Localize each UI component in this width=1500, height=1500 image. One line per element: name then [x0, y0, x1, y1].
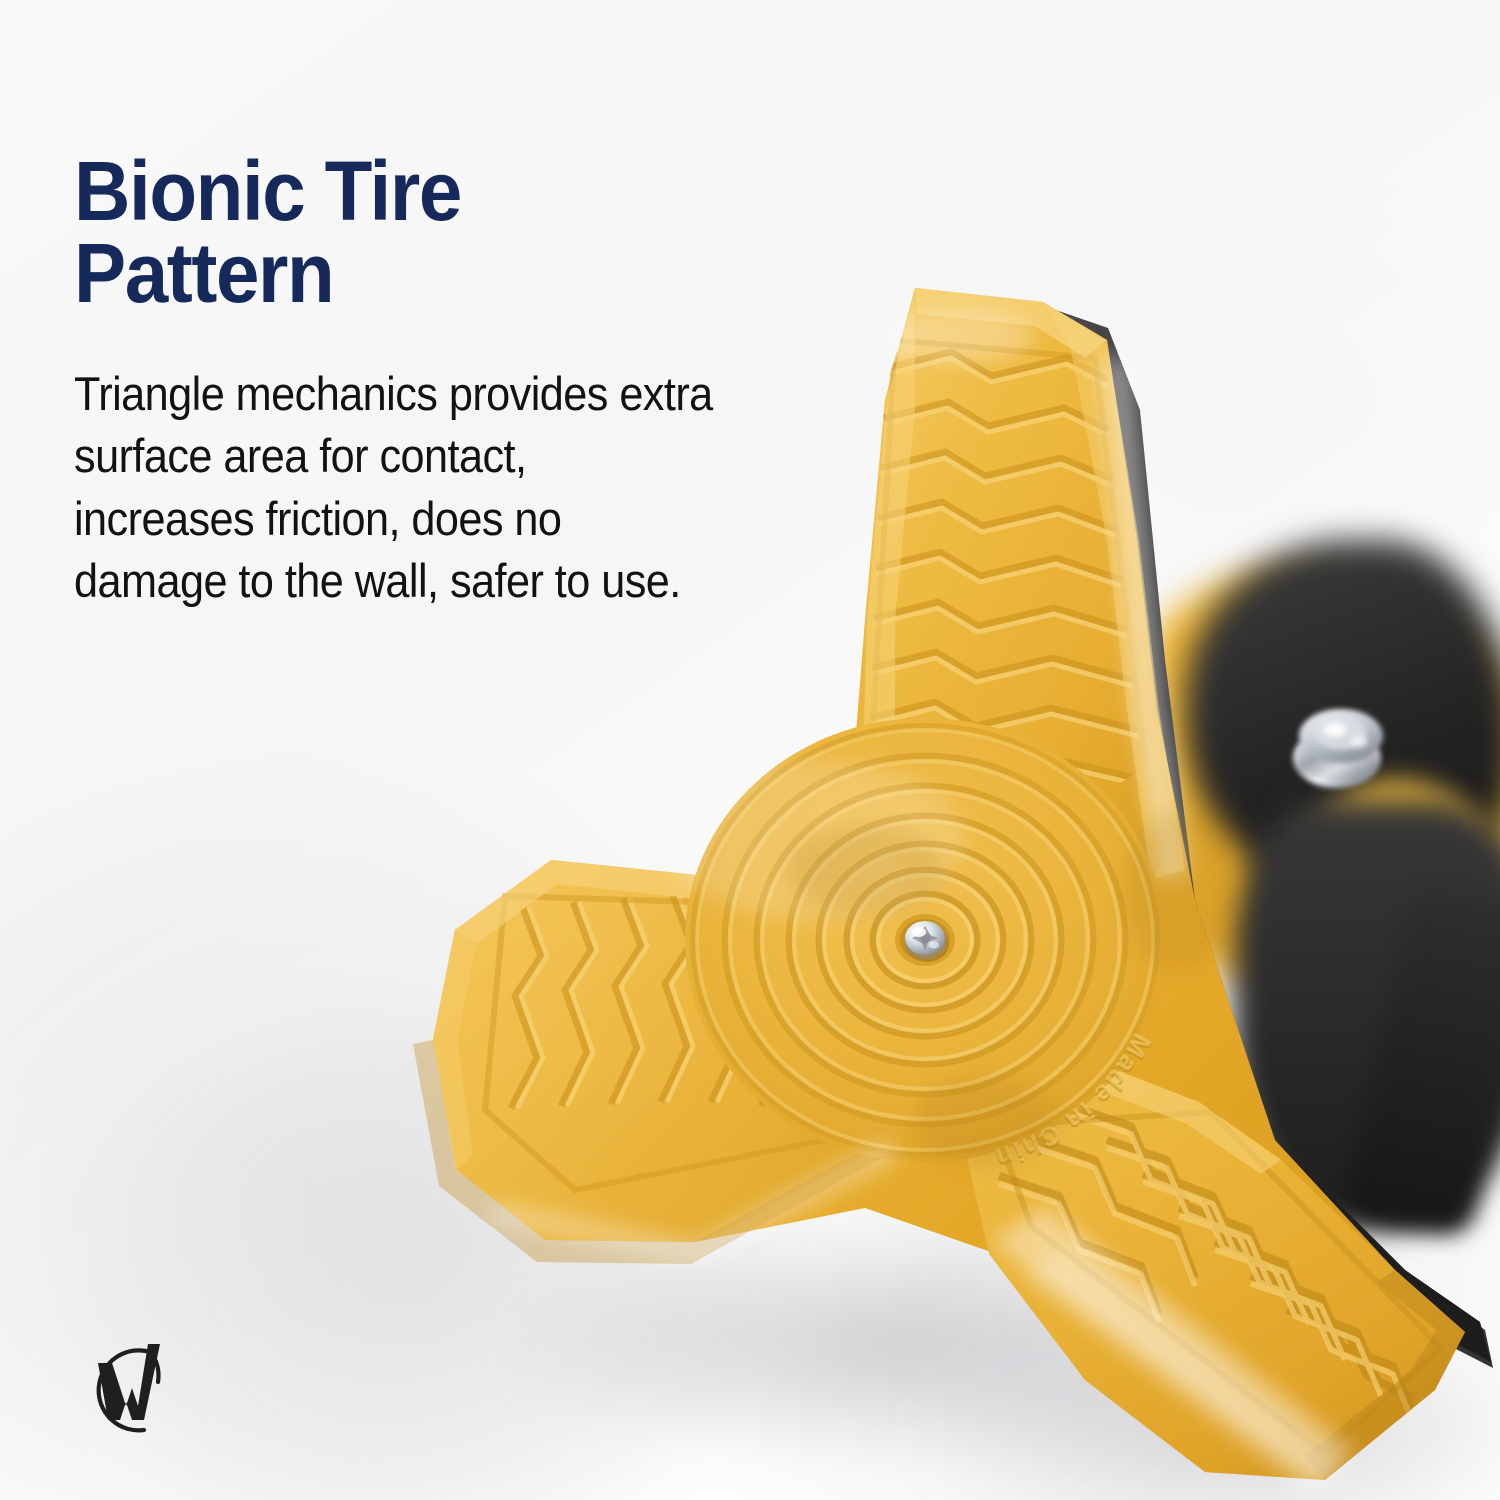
- product-feature-card: Bionic Tire Pattern Triangle mechanics p…: [0, 0, 1500, 1500]
- product-photo: Made in China Made in China: [395, 240, 1500, 1500]
- tripod-base: Made in China Made in China: [395, 240, 1500, 1500]
- w-monogram-icon: [72, 1336, 182, 1446]
- brand-logo: [72, 1336, 182, 1446]
